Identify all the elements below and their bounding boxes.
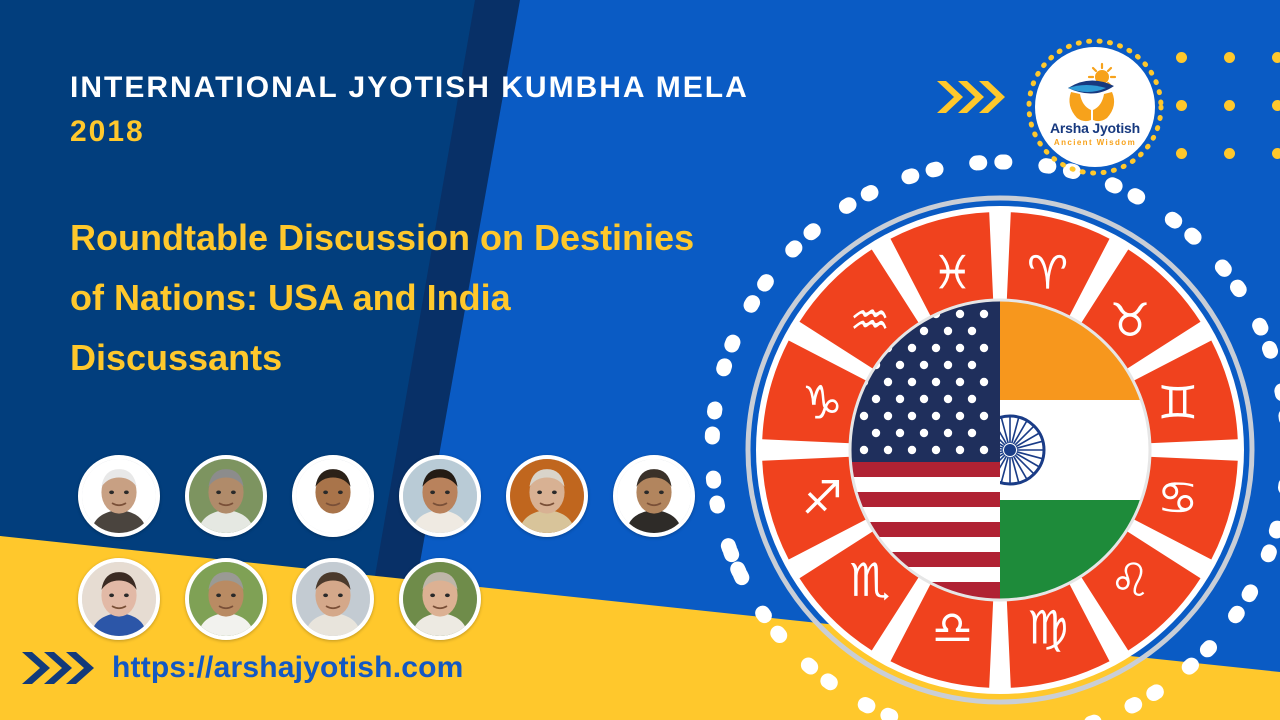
event-kicker: INTERNATIONAL JYOTISH KUMBHA MELA 2018 [70, 66, 770, 154]
taurus-icon: ♉ [1109, 293, 1150, 347]
dot [1224, 148, 1235, 159]
speaker-3 [296, 459, 370, 533]
star [968, 429, 976, 437]
star [956, 412, 964, 420]
dot [1272, 52, 1280, 63]
star [896, 361, 904, 369]
star [920, 361, 928, 369]
promotional-banner: ♈♉♊♋♌♍♎♏♐♑♒♓ [0, 0, 1280, 720]
speaker-10 [403, 562, 477, 636]
star [920, 429, 928, 437]
speaker-8 [189, 562, 263, 636]
star [956, 446, 964, 454]
logo-name: Arsha Jyotish [1024, 120, 1166, 136]
star [884, 378, 892, 386]
website-link[interactable]: https://arshajyotish.com [20, 648, 464, 688]
dot [1176, 148, 1187, 159]
hand-right [1093, 92, 1114, 121]
star [944, 395, 952, 403]
hands-cradling-sun-icon [1060, 62, 1130, 124]
virgo-icon: ♍ [1027, 601, 1068, 655]
star [920, 395, 928, 403]
star [980, 412, 988, 420]
dot-grid-icon [1176, 52, 1280, 196]
star [908, 412, 916, 420]
speaker-6 [617, 459, 691, 533]
avatar [506, 455, 588, 537]
star [944, 361, 952, 369]
avatar [613, 455, 695, 537]
star [896, 395, 904, 403]
star [956, 344, 964, 352]
star [944, 429, 952, 437]
avatar [78, 455, 160, 537]
avatar [399, 558, 481, 640]
page-title: Roundtable Discussion on Destinies of Na… [70, 208, 730, 388]
aquarius-icon: ♒ [849, 293, 890, 347]
star [980, 310, 988, 318]
star [980, 378, 988, 386]
dot [1176, 52, 1187, 63]
speaker-4 [403, 459, 477, 533]
kicker-year: 2018 [70, 115, 145, 148]
kicker-title: INTERNATIONAL JYOTISH KUMBHA MELA [70, 71, 748, 104]
hand-left [1069, 92, 1091, 121]
star [932, 446, 940, 454]
star [860, 412, 868, 420]
star [920, 327, 928, 335]
star [872, 429, 880, 437]
star [956, 310, 964, 318]
star [968, 395, 976, 403]
pisces-icon: ♓ [932, 245, 973, 299]
website-url-text[interactable]: https://arshajyotish.com [112, 651, 464, 685]
logo-tagline: Ancient Wisdom [1024, 138, 1166, 147]
star [908, 344, 916, 352]
libra-icon: ♎ [932, 601, 973, 655]
star [956, 378, 964, 386]
aries-icon: ♈ [1027, 245, 1068, 299]
star [896, 429, 904, 437]
avatar [292, 455, 374, 537]
dot [1224, 52, 1235, 63]
star [884, 412, 892, 420]
avatar [292, 558, 374, 640]
star [908, 378, 916, 386]
star [980, 446, 988, 454]
dot [1176, 100, 1187, 111]
leo-icon: ♌ [1109, 553, 1150, 607]
speaker-9 [296, 562, 370, 636]
star [884, 446, 892, 454]
dot [1224, 100, 1235, 111]
star [980, 344, 988, 352]
brand-logo[interactable]: Arsha Jyotish Ancient Wisdom [1024, 36, 1166, 178]
avatar [185, 455, 267, 537]
speaker-7 [82, 562, 156, 636]
speakers-row-2 [78, 558, 481, 640]
flag-pair [850, 300, 1150, 600]
star [872, 395, 880, 403]
gemini-icon: ♊ [1157, 375, 1198, 429]
avatar [78, 558, 160, 640]
star [932, 412, 940, 420]
dot [1272, 100, 1280, 111]
zodiac-wheel: ♈♉♊♋♌♍♎♏♐♑♒♓ [700, 150, 1280, 720]
star [968, 327, 976, 335]
star [860, 446, 868, 454]
avatar [399, 455, 481, 537]
star [944, 327, 952, 335]
capricorn-icon: ♑ [802, 375, 843, 429]
star [932, 344, 940, 352]
star [908, 446, 916, 454]
avatar [185, 558, 267, 640]
sagittarius-icon: ♐ [802, 471, 843, 525]
speaker-2 [189, 459, 263, 533]
speaker-1 [82, 459, 156, 533]
star [932, 378, 940, 386]
scorpio-icon: ♏ [849, 553, 890, 607]
star [968, 361, 976, 369]
speaker-5 [510, 459, 584, 533]
cancer-icon: ♋ [1157, 471, 1198, 525]
chevron-triple-right-icon [936, 78, 1008, 116]
speakers-row-1 [78, 455, 695, 537]
chevron-triple-right-icon [20, 648, 98, 688]
dot [1272, 148, 1280, 159]
